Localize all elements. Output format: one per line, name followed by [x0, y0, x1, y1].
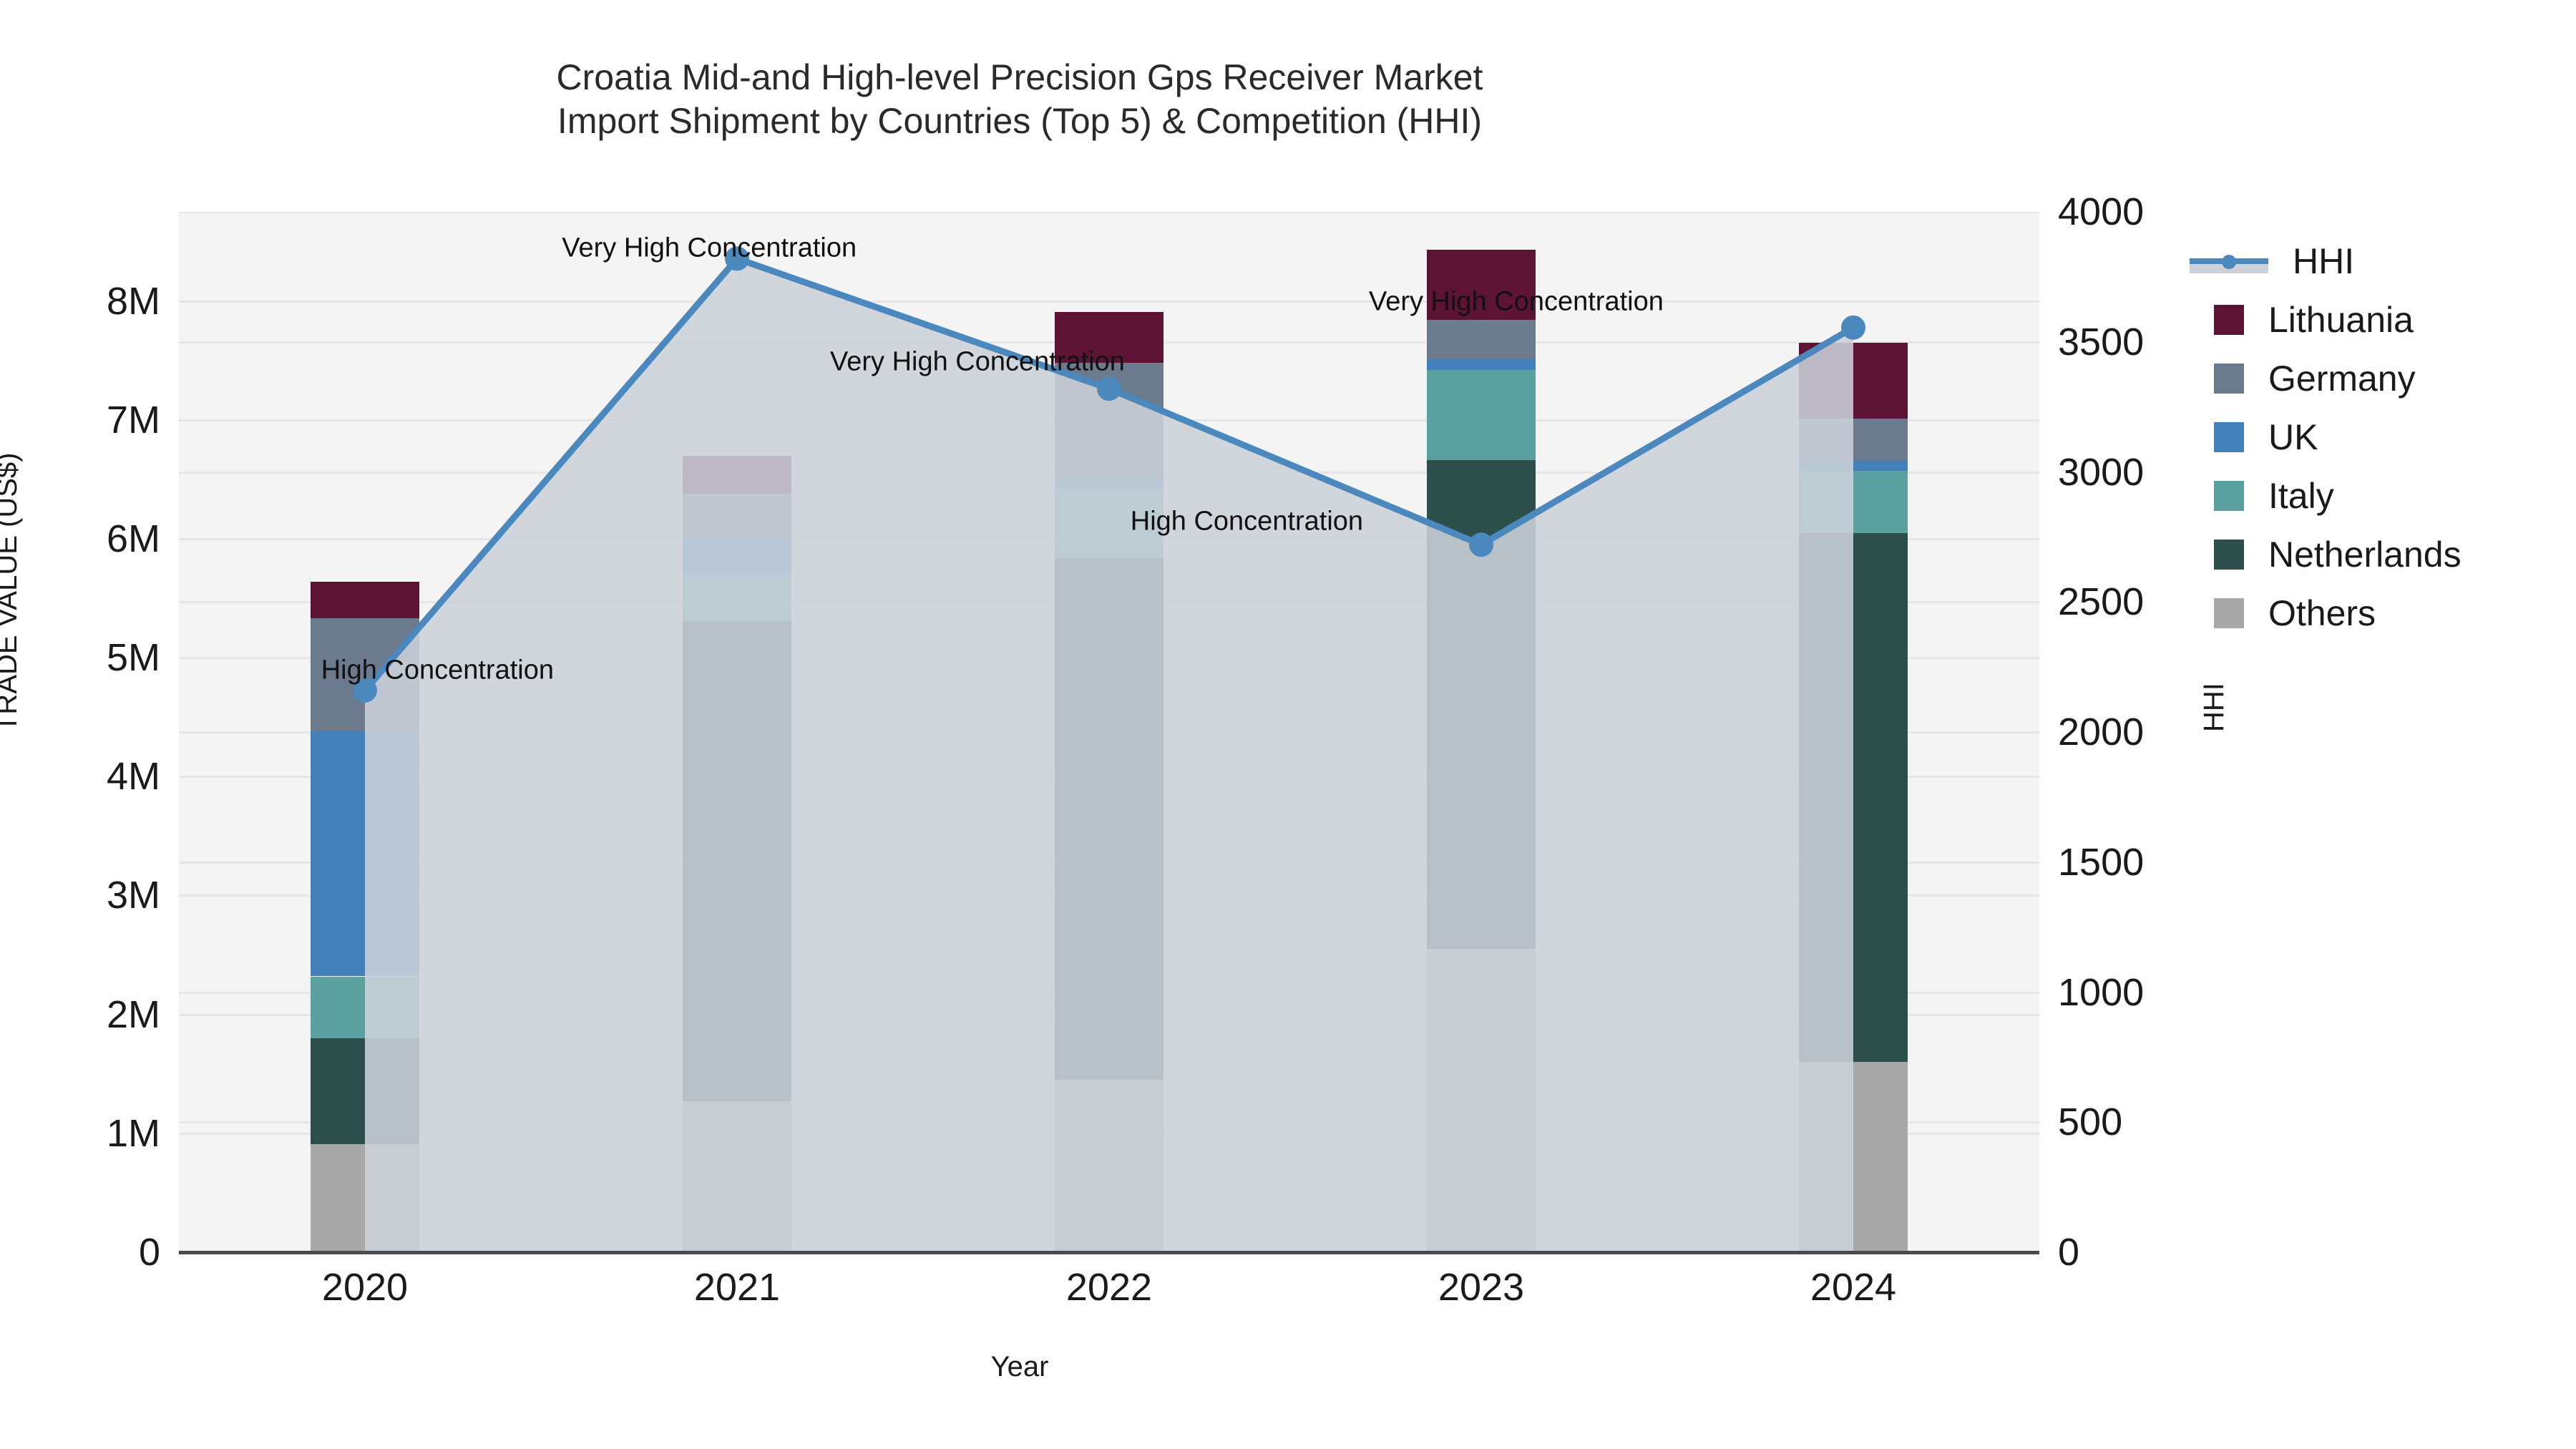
concentration-annotation: Very High Concentration [1369, 286, 1664, 317]
y-axis-right-tick-label: 1000 [2058, 970, 2144, 1015]
legend-item-hhi[interactable]: HHI [2190, 236, 2562, 286]
y-axis-right-tick-label: 0 [2058, 1230, 2079, 1274]
legend-label: UK [2268, 416, 2318, 458]
legend-label: Lithuania [2268, 299, 2414, 341]
legend-item-lithuania[interactable]: Lithuania [2190, 295, 2562, 345]
hhi-marker[interactable] [1841, 316, 1865, 340]
x-axis-title: Year [0, 1351, 2039, 1383]
legend-marker-dot [2222, 255, 2236, 269]
legend-item-uk[interactable]: UK [2190, 412, 2562, 462]
y-axis-left-tick-label: 1M [107, 1111, 160, 1156]
legend-label: HHI [2293, 240, 2354, 282]
legend-label: Germany [2268, 358, 2416, 399]
concentration-annotation: High Concentration [1131, 507, 1363, 537]
y-axis-right-tick-label: 4000 [2058, 190, 2144, 234]
plot-area: High ConcentrationVery High Concentratio… [179, 212, 2039, 1252]
x-axis-tick-label-2020: 2020 [322, 1265, 408, 1309]
hhi-marker[interactable] [1097, 376, 1121, 401]
legend-color-swatch [2214, 481, 2244, 511]
legend-item-germany[interactable]: Germany [2190, 353, 2562, 404]
y-axis-right-tick-label: 2500 [2058, 580, 2144, 624]
legend-line-icon [2190, 246, 2268, 276]
legend-color-swatch [2214, 305, 2244, 335]
legend-color-swatch [2214, 540, 2244, 570]
y-axis-left-tick-label: 2M [107, 992, 160, 1037]
y-axis-left-tick-label: 0 [139, 1230, 160, 1274]
y-axis-left-tick-label: 8M [107, 279, 160, 323]
y-axis-right-title: HHI [2198, 683, 2230, 732]
y-axis-left-tick-label: 4M [107, 754, 160, 799]
y-axis-right-tick-label: 3500 [2058, 320, 2144, 364]
legend-label: Others [2268, 592, 2376, 634]
y-axis-left-title: TRADE VALUE (US$) [0, 453, 24, 732]
legend-item-others[interactable]: Others [2190, 588, 2562, 638]
chart-title-line1: Croatia Mid-and High-level Precision Gps… [0, 56, 2039, 99]
y-axis-left-tick-label: 6M [107, 517, 160, 561]
concentration-annotation: High Concentration [321, 655, 554, 686]
x-axis-tick-label-2023: 2023 [1438, 1265, 1524, 1309]
legend-label: Italy [2268, 475, 2334, 517]
x-axis-tick-label-2021: 2021 [694, 1265, 780, 1309]
legend-color-swatch [2214, 598, 2244, 628]
y-axis-left-tick-label: 5M [107, 635, 160, 680]
concentration-annotation: Very High Concentration [830, 346, 1125, 377]
y-axis-left-tick-label: 3M [107, 873, 160, 917]
y-axis-left-tick-label: 7M [107, 398, 160, 442]
x-axis-tick-label-2022: 2022 [1066, 1265, 1152, 1309]
chart-root: Croatia Mid-and High-level Precision Gps… [0, 0, 2576, 1449]
y-axis-right-tick-label: 1500 [2058, 840, 2144, 884]
y-axis-right-tick-label: 500 [2058, 1100, 2122, 1144]
legend-item-italy[interactable]: Italy [2190, 471, 2562, 521]
y-axis-right-tick-label: 2000 [2058, 710, 2144, 754]
legend-label: Netherlands [2268, 534, 2462, 575]
chart-title: Croatia Mid-and High-level Precision Gps… [0, 56, 2039, 143]
y-axis-right-tick-label: 3000 [2058, 450, 2144, 494]
x-axis-tick-label-2024: 2024 [1810, 1265, 1896, 1309]
legend: HHILithuaniaGermanyUKItalyNetherlandsOth… [2190, 236, 2562, 647]
legend-color-swatch [2214, 422, 2244, 452]
concentration-annotation: Very High Concentration [562, 233, 857, 264]
chart-title-line2: Import Shipment by Countries (Top 5) & C… [0, 99, 2039, 143]
legend-item-netherlands[interactable]: Netherlands [2190, 530, 2562, 580]
hhi-area-fill [365, 258, 1853, 1252]
hhi-marker[interactable] [1469, 532, 1493, 557]
legend-color-swatch [2214, 364, 2244, 394]
x-axis-line [179, 1251, 2039, 1254]
